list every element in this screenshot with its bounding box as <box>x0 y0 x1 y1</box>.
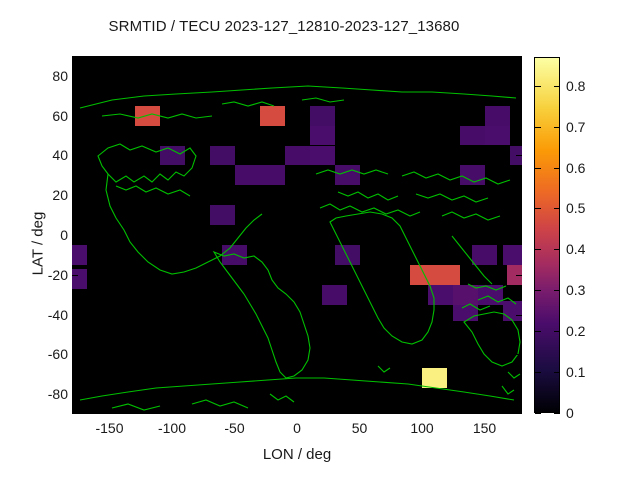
x-tick <box>110 408 111 414</box>
y-tick <box>72 76 78 77</box>
x-tick <box>297 56 298 62</box>
colorbar-tick <box>554 168 560 169</box>
map-plot-area[interactable] <box>72 56 522 414</box>
colorbar-tick <box>554 86 560 87</box>
x-tick <box>235 408 236 414</box>
colorbar-tick <box>535 290 541 291</box>
x-tick-label: 0 <box>293 420 301 436</box>
y-tick-label: -60 <box>8 346 68 362</box>
plot-canvas: SRMTID / TECU 2023-127_12810-2023-127_13… <box>0 0 640 480</box>
y-tick <box>72 315 78 316</box>
colorbar-tick-label: 0.6 <box>566 160 585 176</box>
colorbar-tick-label: 0.4 <box>566 241 585 257</box>
x-tick-label: 50 <box>352 420 368 436</box>
colorbar-tick-label: 0 <box>566 405 574 421</box>
colorbar-tick <box>535 86 541 87</box>
y-tick <box>72 275 78 276</box>
y-tick-label: 40 <box>8 147 68 163</box>
y-tick-label: 20 <box>8 187 68 203</box>
y-tick <box>516 235 522 236</box>
colorbar-tick <box>554 290 560 291</box>
x-tick <box>172 56 173 62</box>
x-tick <box>360 56 361 62</box>
y-tick <box>72 354 78 355</box>
x-tick <box>360 408 361 414</box>
x-tick <box>422 408 423 414</box>
y-tick <box>516 155 522 156</box>
x-tick <box>110 56 111 62</box>
x-tick-label: 100 <box>410 420 433 436</box>
colorbar-tick <box>554 372 560 373</box>
y-tick <box>516 116 522 117</box>
y-tick <box>516 354 522 355</box>
colorbar-tick <box>535 372 541 373</box>
y-tick <box>516 315 522 316</box>
coastline-overlay <box>72 56 522 414</box>
colorbar-tick <box>535 127 541 128</box>
colorbar-tick <box>554 331 560 332</box>
x-tick-label: 150 <box>473 420 496 436</box>
y-tick-label: -80 <box>8 386 68 402</box>
y-tick-label: 60 <box>8 108 68 124</box>
x-tick <box>172 408 173 414</box>
colorbar-tick <box>535 168 541 169</box>
x-tick-label: -100 <box>158 420 186 436</box>
y-tick-label: -20 <box>8 267 68 283</box>
x-tick <box>235 56 236 62</box>
colorbar-tick <box>554 208 560 209</box>
x-tick <box>485 408 486 414</box>
colorbar-tick <box>554 413 560 414</box>
colorbar-gradient <box>535 58 559 412</box>
colorbar-tick <box>535 413 541 414</box>
y-tick-label: 80 <box>8 68 68 84</box>
colorbar-tick-label: 0.8 <box>566 78 585 94</box>
colorbar[interactable] <box>534 57 560 413</box>
y-tick <box>72 195 78 196</box>
colorbar-tick <box>554 249 560 250</box>
colorbar-tick-label: 0.3 <box>566 282 585 298</box>
colorbar-tick <box>554 127 560 128</box>
y-tick <box>516 394 522 395</box>
y-tick <box>516 195 522 196</box>
colorbar-tick-label: 0.2 <box>566 323 585 339</box>
x-tick <box>485 56 486 62</box>
x-tick <box>297 408 298 414</box>
y-tick <box>72 155 78 156</box>
x-tick <box>422 56 423 62</box>
x-tick-label: -150 <box>95 420 123 436</box>
colorbar-tick <box>535 249 541 250</box>
colorbar-tick <box>535 208 541 209</box>
y-tick <box>72 394 78 395</box>
colorbar-tick-label: 0.5 <box>566 200 585 216</box>
x-tick-label: -50 <box>224 420 244 436</box>
y-tick <box>516 275 522 276</box>
y-tick <box>72 116 78 117</box>
y-tick <box>72 235 78 236</box>
y-tick <box>516 76 522 77</box>
y-tick-label: 0 <box>8 227 68 243</box>
y-tick-label: -40 <box>8 307 68 323</box>
colorbar-tick-label: 0.1 <box>566 364 585 380</box>
colorbar-tick-label: 0.7 <box>566 119 585 135</box>
x-axis-title: LON / deg <box>72 446 522 463</box>
colorbar-tick <box>535 331 541 332</box>
page-title: SRMTID / TECU 2023-127_12810-2023-127_13… <box>0 18 568 35</box>
